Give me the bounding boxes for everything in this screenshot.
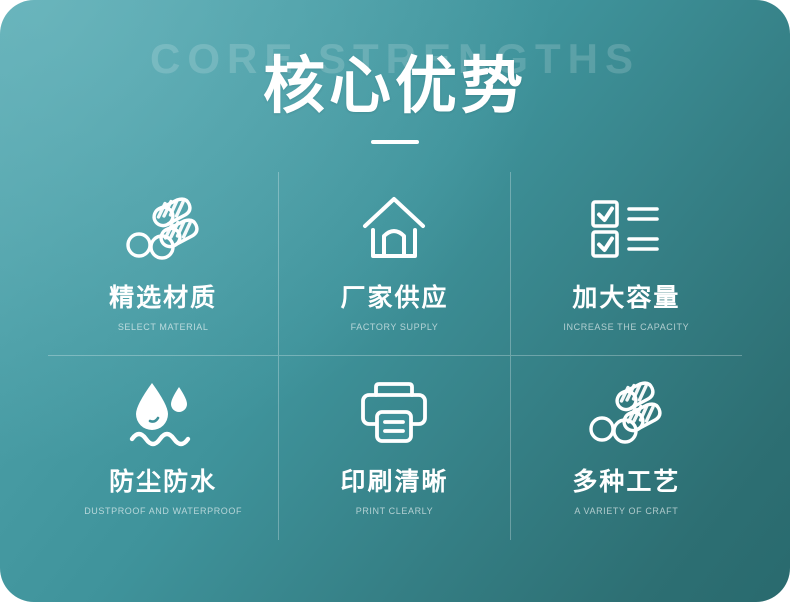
feature-caption: DUSTPROOF AND WATERPROOF — [84, 507, 242, 516]
feature-caption: SELECT MATERIAL — [118, 323, 209, 332]
feature-item-select-material: 精选材质 SELECT MATERIAL — [48, 172, 279, 356]
feature-item-print-clearly: 印刷清晰 PRINT CLEARLY — [279, 356, 510, 540]
checklist-icon — [589, 186, 663, 272]
feature-item-dustproof-waterproof: 防尘防水 DUSTPROOF AND WATERPROOF — [48, 356, 279, 540]
banner-header: CORE STRENGTHS 核心优势 — [0, 34, 790, 144]
factory-house-icon — [357, 186, 431, 272]
printer-icon — [357, 370, 431, 456]
feature-item-variety-of-craft: 多种工艺 A VARIETY OF CRAFT — [511, 356, 742, 540]
feature-item-factory-supply: 厂家供应 FACTORY SUPPLY — [279, 172, 510, 356]
feature-item-increase-capacity: 加大容量 INCREASE THE CAPACITY — [511, 172, 742, 356]
banner-card: CORE STRENGTHS 核心优势 — [0, 0, 790, 602]
feature-grid: 精选材质 SELECT MATERIAL 厂家供应 FACTORY SUPPLY — [48, 172, 742, 540]
feature-title: 厂家供应 — [340, 286, 448, 311]
stacked-pipes-icon — [124, 186, 202, 272]
feature-title: 多种工艺 — [572, 470, 680, 495]
core-strengths-banner: CORE STRENGTHS 核心优势 — [0, 0, 790, 602]
feature-title: 精选材质 — [109, 286, 217, 311]
page-title: 核心优势 — [0, 56, 790, 118]
water-drop-icon — [124, 370, 202, 456]
title-underline — [371, 140, 419, 144]
feature-caption: PRINT CLEARLY — [356, 507, 434, 516]
feature-title: 印刷清晰 — [340, 470, 448, 495]
stacked-pipes-icon — [587, 370, 665, 456]
feature-caption: INCREASE THE CAPACITY — [563, 323, 689, 332]
feature-title: 防尘防水 — [109, 470, 217, 495]
feature-caption: A VARIETY OF CRAFT — [574, 507, 678, 516]
feature-title: 加大容量 — [572, 286, 680, 311]
feature-caption: FACTORY SUPPLY — [351, 323, 439, 332]
